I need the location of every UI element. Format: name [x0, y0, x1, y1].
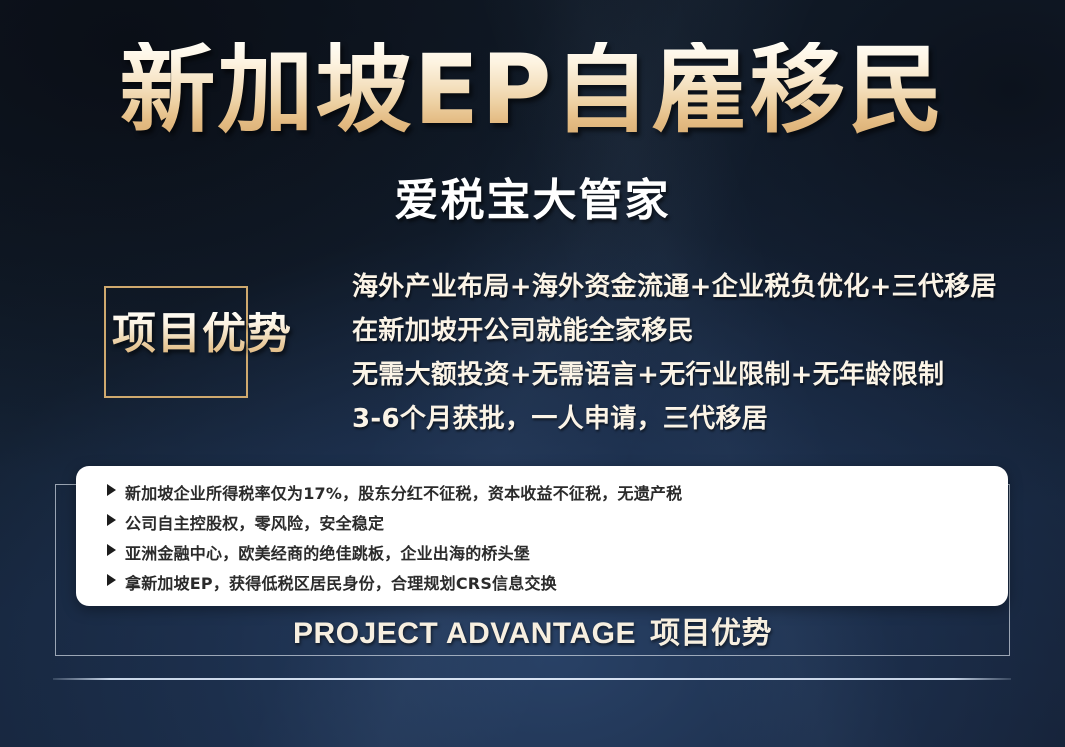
footer-caption-chinese: 项目优势 [650, 616, 772, 651]
feature-line: 在新加坡开公司就能全家移民 [352, 312, 1032, 350]
benefits-card: 新加坡企业所得税率仅为17%，股东分红不征税，资本收益不征税，无遗产税 公司自主… [76, 466, 1008, 606]
feature-line: 3-6个月获批，一人申请，三代移居 [352, 400, 1032, 438]
list-item: 拿新加坡EP，获得低税区居民身份，合理规划CRS信息交换 [76, 570, 1008, 598]
list-item-label: 拿新加坡EP，获得低税区居民身份，合理规划CRS信息交换 [125, 570, 557, 598]
feature-line: 海外产业布局+海外资金流通+企业税负优化+三代移居 [352, 268, 1032, 306]
footer-caption: PROJECT ADVANTAGE项目优势 [0, 614, 1065, 654]
feature-line: 无需大额投资+无需语言+无行业限制+无年龄限制 [352, 356, 1032, 394]
page-title: 新加坡EP自雇移民 [0, 42, 1065, 138]
footer-caption-english: PROJECT ADVANTAGE [293, 617, 636, 650]
project-advantage-badge: 项目优势 [104, 286, 248, 398]
badge-label: 项目优势 [112, 312, 342, 356]
list-item: 新加坡企业所得税率仅为17%，股东分红不征税，资本收益不征税，无遗产税 [76, 480, 1008, 508]
list-item-label: 亚洲金融中心，欧美经商的绝佳跳板，企业出海的桥头堡 [125, 540, 530, 568]
list-item-label: 公司自主控股权，零风险，安全稳定 [125, 510, 384, 538]
poster-canvas: 新加坡EP自雇移民 爱税宝大管家 项目优势 海外产业布局+海外资金流通+企业税负… [0, 0, 1065, 747]
feature-list: 海外产业布局+海外资金流通+企业税负优化+三代移居 在新加坡开公司就能全家移民 … [352, 268, 1032, 444]
triangle-bullet-icon [107, 514, 116, 526]
list-item: 公司自主控股权，零风险，安全稳定 [76, 510, 1008, 538]
list-item: 亚洲金融中心，欧美经商的绝佳跳板，企业出海的桥头堡 [76, 540, 1008, 568]
triangle-bullet-icon [107, 574, 116, 586]
triangle-bullet-icon [107, 544, 116, 556]
triangle-bullet-icon [107, 484, 116, 496]
page-subtitle: 爱税宝大管家 [0, 178, 1065, 224]
bottom-divider [53, 678, 1011, 680]
list-item-label: 新加坡企业所得税率仅为17%，股东分红不征税，资本收益不征税，无遗产税 [125, 480, 682, 508]
